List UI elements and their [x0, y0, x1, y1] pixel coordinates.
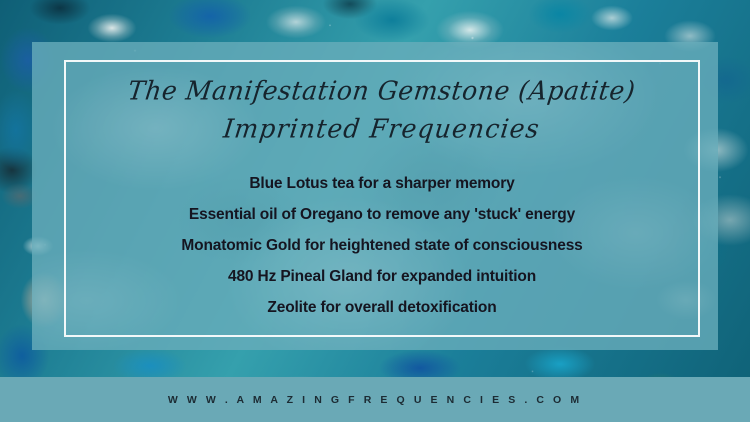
- frequency-list: Blue Lotus tea for a sharper memory Esse…: [181, 168, 582, 323]
- title-line-1: The Manifestation Gemstone (Apatite): [126, 71, 638, 111]
- title-block: The Manifestation Gemstone (Apatite) Imp…: [128, 72, 635, 148]
- title-line-2: Imprinted Frequencies: [126, 109, 638, 149]
- footer-bar: W W W . A M A Z I N G F R E Q U E N C I …: [0, 377, 750, 422]
- list-item: Monatomic Gold for heightened state of c…: [181, 230, 582, 261]
- list-item: 480 Hz Pineal Gland for expanded intuiti…: [228, 261, 536, 292]
- card-content: The Manifestation Gemstone (Apatite) Imp…: [32, 42, 718, 350]
- content-card: The Manifestation Gemstone (Apatite) Imp…: [32, 42, 718, 350]
- list-item: Zeolite for overall detoxification: [267, 292, 496, 323]
- list-item: Blue Lotus tea for a sharper memory: [249, 168, 514, 199]
- poster-graphic: The Manifestation Gemstone (Apatite) Imp…: [0, 0, 750, 422]
- website-url: W W W . A M A Z I N G F R E Q U E N C I …: [168, 394, 582, 406]
- list-item: Essential oil of Oregano to remove any '…: [189, 199, 575, 230]
